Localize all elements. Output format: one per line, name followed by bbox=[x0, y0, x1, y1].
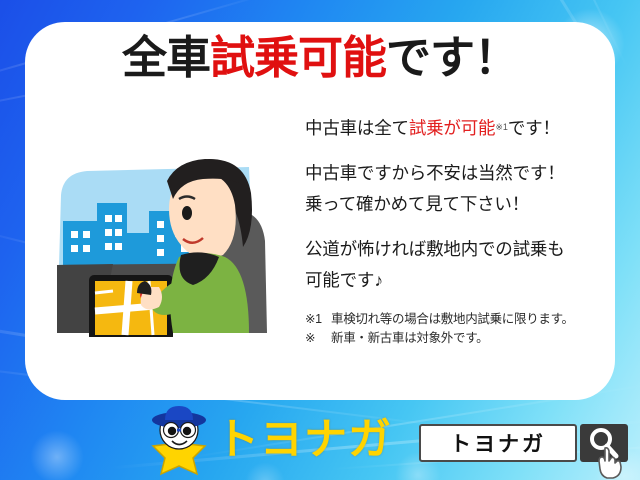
footnote-1-text: 車検切れ等の場合は敷地内試乗に限ります。 bbox=[331, 312, 574, 326]
footnote-2: ※新車・新古車は対象外です。 bbox=[305, 329, 615, 348]
brand-logotype: トヨナガ bbox=[216, 413, 392, 467]
copy-line-1-highlight: 試乗が可能 bbox=[409, 118, 496, 138]
mascot-pupil-right bbox=[183, 427, 191, 435]
cursor-icon bbox=[596, 446, 626, 480]
footnote-1: ※1車検切れ等の場合は敷地内試乗に限ります。 bbox=[305, 310, 615, 329]
search-input-value: トヨナガ bbox=[450, 428, 546, 458]
toyonaga-mascot bbox=[143, 404, 215, 478]
mascot-svg bbox=[143, 404, 215, 478]
driver-eye bbox=[182, 206, 192, 220]
hand-pointer-cursor bbox=[596, 446, 626, 480]
page-title: 全車試乗可能です！ bbox=[25, 32, 615, 84]
illustration-driving-test-drive bbox=[53, 137, 303, 337]
mascot-hat-crown bbox=[165, 406, 193, 420]
footnote-1-mark: ※1 bbox=[305, 310, 331, 329]
headline-part-1: 全車 bbox=[122, 32, 210, 83]
headline-part-highlight: 試乗可能 bbox=[210, 32, 386, 83]
copy-line-1a: 中古車は全て bbox=[305, 118, 409, 138]
copy-block: 中古車は全て試乗が可能※1です！ 中古車ですから不安は当然です！ 乗って確かめて… bbox=[305, 112, 615, 348]
copy-line-5: 可能です♪ bbox=[305, 265, 615, 296]
copy-line-1: 中古車は全て試乗が可能※1です！ bbox=[305, 112, 615, 144]
footnote-2-mark: ※ bbox=[305, 329, 331, 348]
advertisement-banner: 全車試乗可能です！ bbox=[0, 0, 640, 480]
spacer bbox=[305, 220, 615, 234]
spacer bbox=[305, 144, 615, 158]
footnote-ref: ※1 bbox=[495, 122, 508, 132]
copy-line-3: 乗って確かめて見て下さい！ bbox=[305, 189, 615, 220]
mascot-pupil-left bbox=[168, 427, 176, 435]
copy-line-2: 中古車ですから不安は当然です！ bbox=[305, 158, 615, 189]
copy-line-4: 公道が怖ければ敷地内での試乗も bbox=[305, 234, 615, 265]
spacer bbox=[305, 296, 615, 310]
illustration-svg bbox=[53, 137, 303, 337]
headline-part-3: です！ bbox=[386, 32, 518, 83]
search-input[interactable]: トヨナガ bbox=[419, 424, 577, 462]
content-card: 全車試乗可能です！ bbox=[25, 22, 615, 400]
copy-line-1b: です！ bbox=[508, 118, 560, 138]
brand-logotype-text: トヨナガ bbox=[216, 416, 392, 464]
footnote-2-text: 新車・新古車は対象外です。 bbox=[331, 331, 488, 345]
